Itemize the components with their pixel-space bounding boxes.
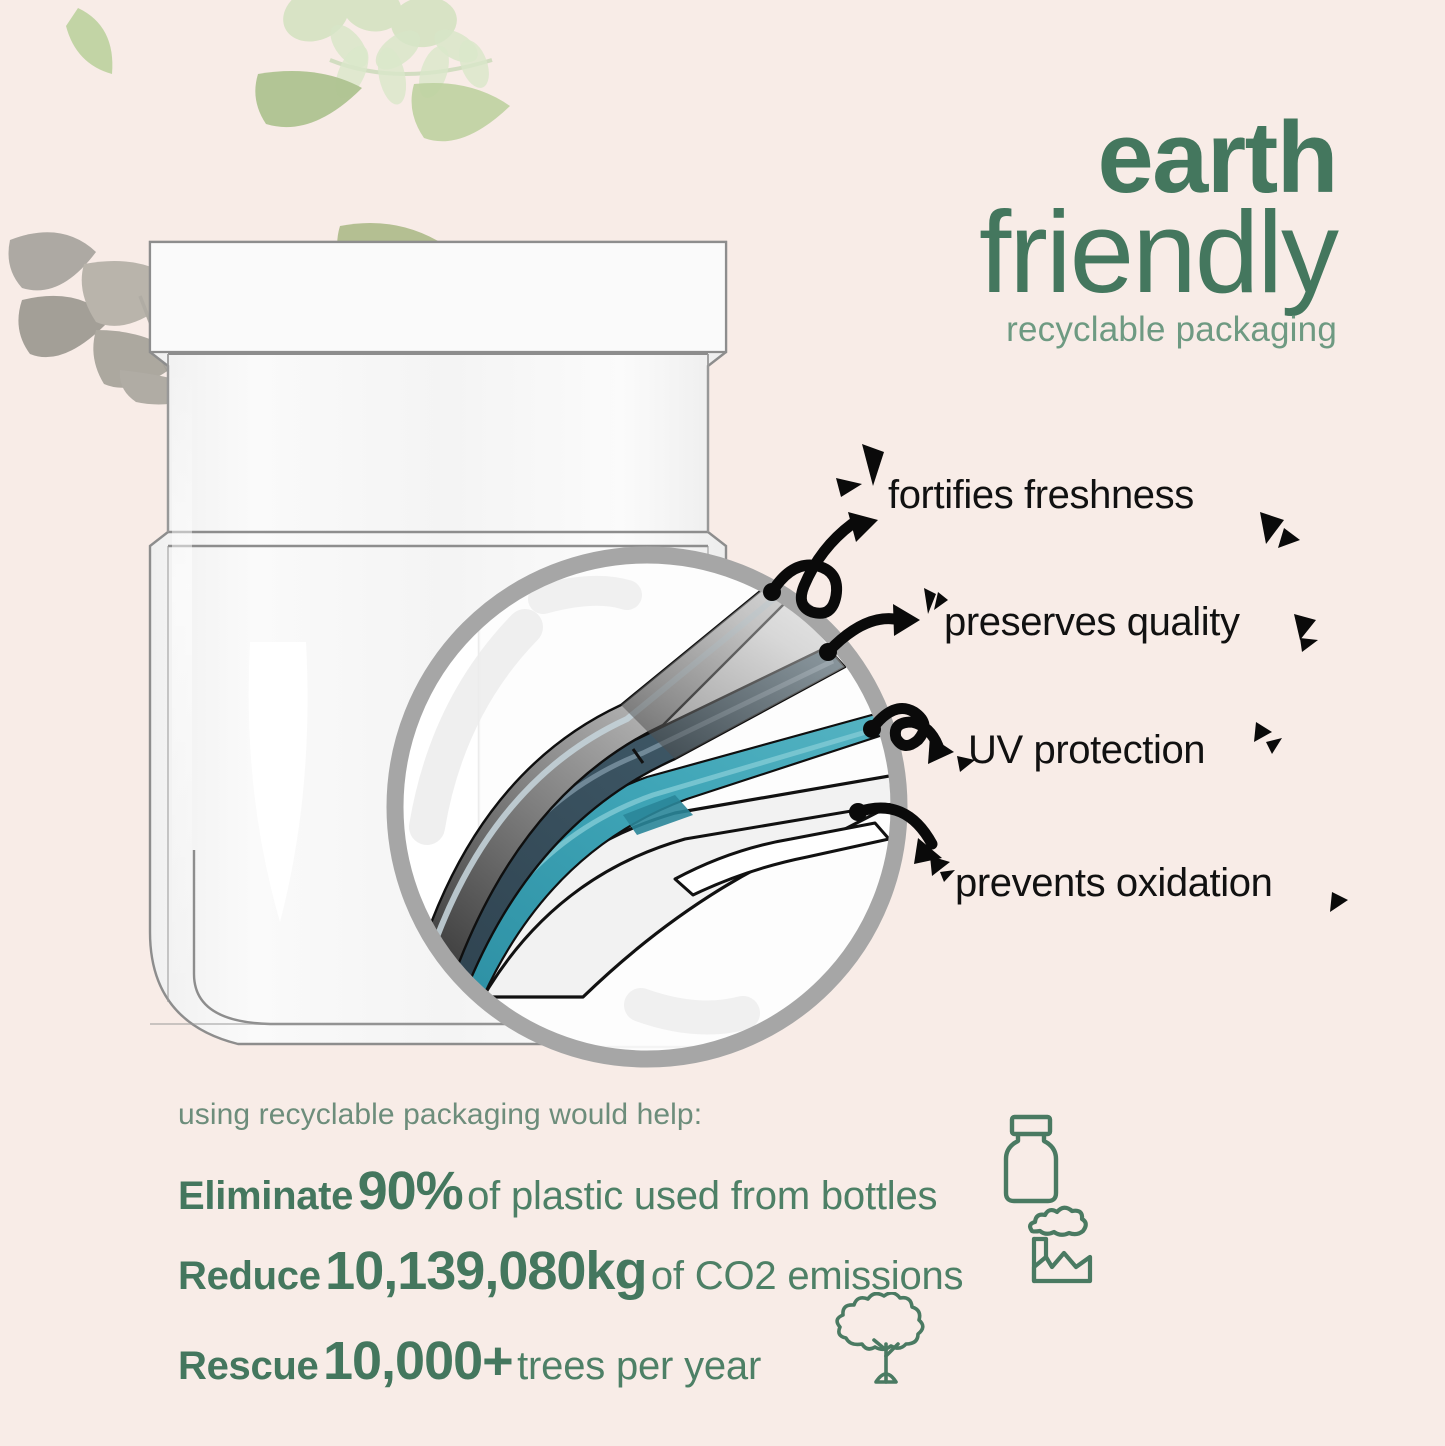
feature-label-fortifies-freshness: fortifies freshness xyxy=(888,473,1194,518)
factory-icon xyxy=(1020,1205,1098,1291)
stat-tail: of plastic used from bottles xyxy=(467,1174,937,1218)
stat-tail: trees per year xyxy=(517,1344,761,1388)
headline-subtitle: recyclable packaging xyxy=(979,314,1337,346)
feature-label-prevents-oxidation: prevents oxidation xyxy=(955,861,1272,906)
stat-row-rescue: Rescue 10,000+ trees per year xyxy=(178,1330,761,1392)
feature-label-uv-protection: UV protection xyxy=(968,728,1205,773)
stat-verb: Reduce xyxy=(178,1254,321,1298)
bottle-icon xyxy=(996,1113,1066,1205)
headline-block: earth friendly recyclable packaging xyxy=(979,112,1337,346)
stats-intro-text: using recyclable packaging would help: xyxy=(178,1098,1278,1132)
stat-verb: Eliminate xyxy=(178,1174,353,1218)
infographic-canvas: earth friendly recyclable packaging xyxy=(0,0,1445,1446)
material-layers-magnifier xyxy=(375,527,920,1087)
stat-number: 90% xyxy=(358,1161,463,1221)
statistics-block: using recyclable packaging would help: E… xyxy=(178,1098,1278,1132)
stat-row-eliminate: Eliminate 90% of plastic used from bottl… xyxy=(178,1160,937,1222)
stat-number: 10,139,080kg xyxy=(325,1241,646,1301)
stat-number: 10,000+ xyxy=(323,1331,513,1391)
stat-verb: Rescue xyxy=(178,1344,319,1388)
tree-icon xyxy=(832,1292,940,1400)
headline-line-2: friendly xyxy=(979,199,1337,306)
feature-label-preserves-quality: preserves quality xyxy=(944,600,1240,645)
